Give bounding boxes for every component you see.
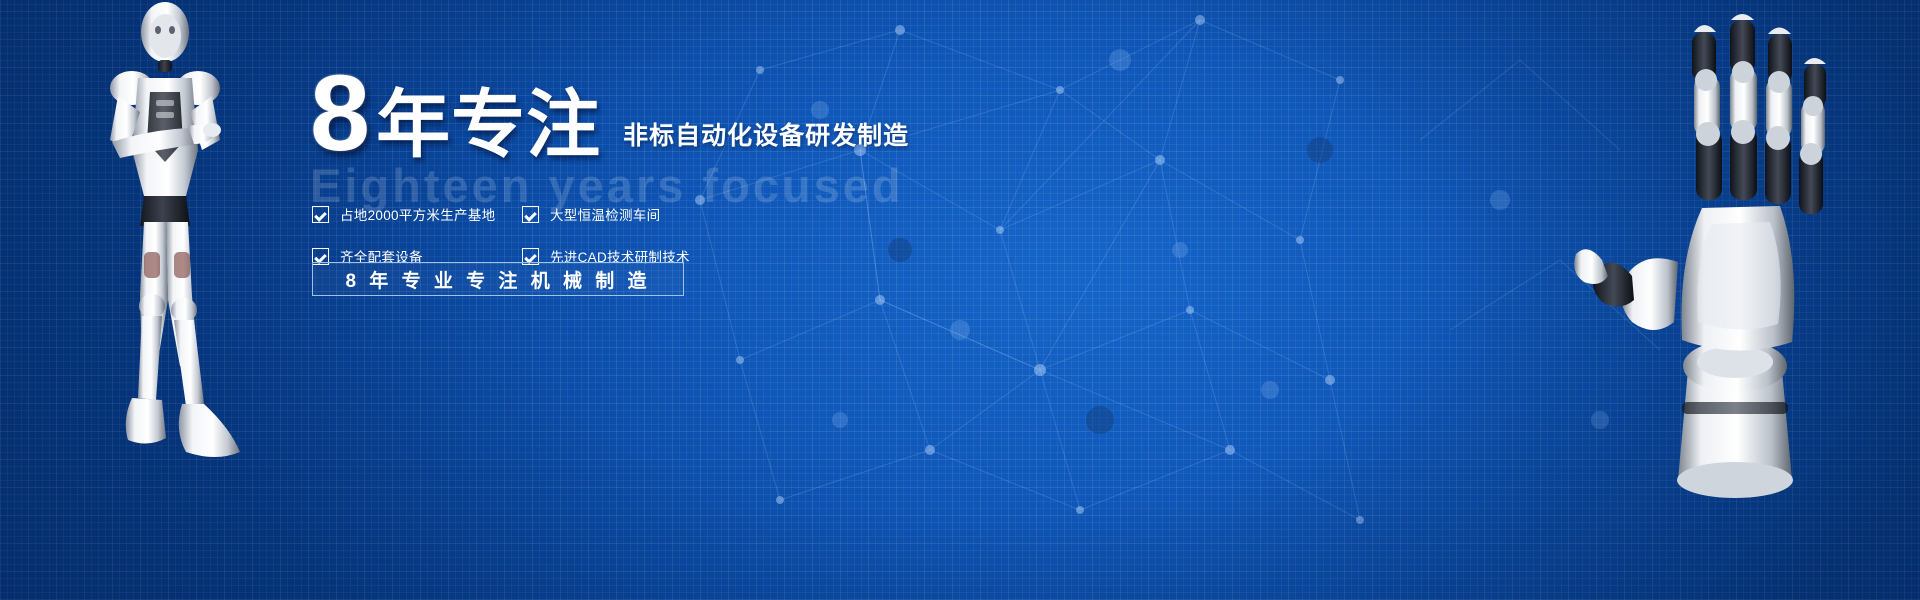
robotic-hand-image [1570, 10, 1900, 500]
banner-content: Eighteen years focused 8 年专注 非标自动化设备研发制造… [310, 66, 1090, 162]
checkbox-checked-icon [312, 206, 329, 223]
feature-label: 占地2000平方米生产基地 [340, 204, 495, 224]
checkbox-checked-icon [522, 206, 539, 223]
feature-list: 占地2000平方米生产基地 大型恒温检测车间 齐全配套设备 先进CAD技术研制技… [312, 204, 732, 266]
feature-item: 大型恒温检测车间 [522, 204, 732, 224]
humanoid-robot-image [70, 0, 260, 490]
feature-item: 占地2000平方米生产基地 [312, 204, 522, 224]
slogan-box: 8 年 专 业 专 注 机 械 制 造 [312, 262, 684, 296]
slogan-text: 8 年 专 业 专 注 机 械 制 造 [345, 266, 650, 293]
headline-chinese: 年专注 [376, 88, 601, 162]
banner-subtitle: 非标自动化设备研发制造 [623, 116, 909, 152]
feature-label: 大型恒温检测车间 [550, 204, 660, 224]
headline-number: 8 [310, 63, 368, 162]
promo-banner: Eighteen years focused 8 年专注 非标自动化设备研发制造… [0, 0, 1920, 600]
headline-row: 8 年专注 非标自动化设备研发制造 [310, 66, 1090, 162]
